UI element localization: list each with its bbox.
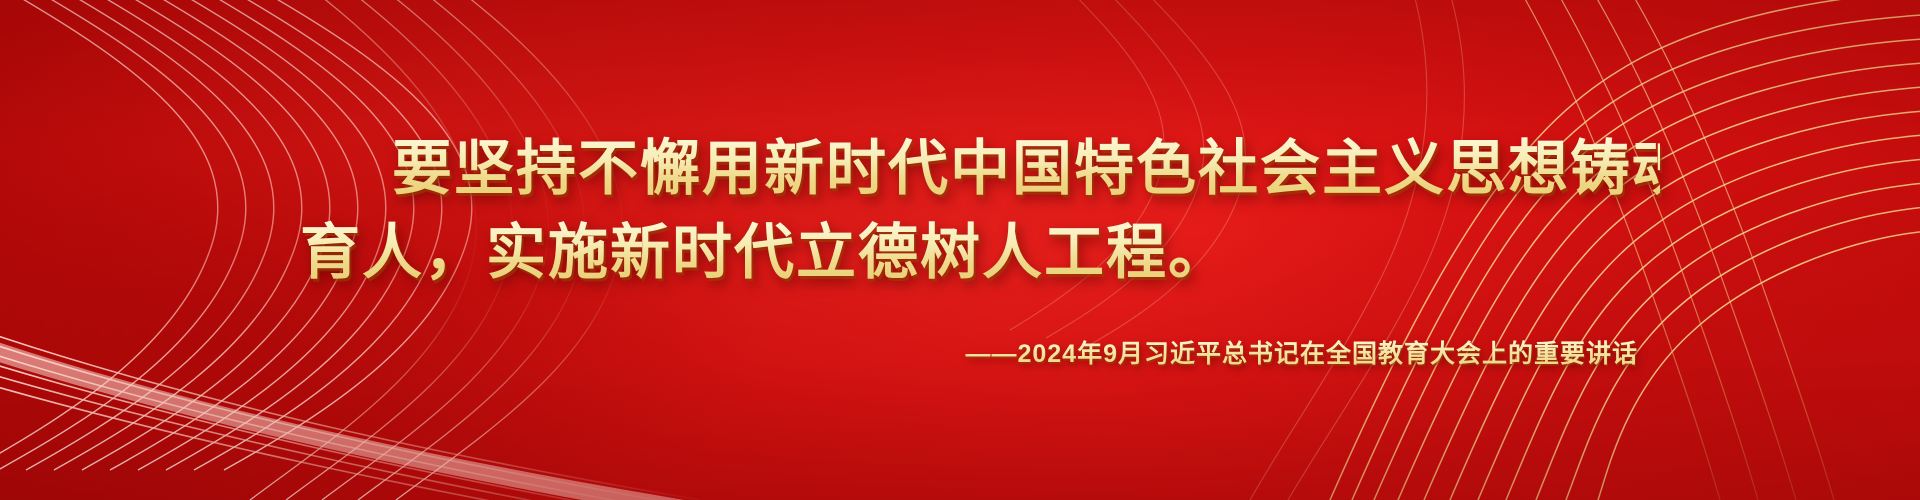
- attribution-row: ——2024年9月习近平总书记在全国教育大会上的重要讲话: [260, 338, 1660, 370]
- attribution-text: ——2024年9月习近平总书记在全国教育大会上的重要讲话: [965, 338, 1638, 370]
- quote-line-2: 育人，实施新时代立德树人工程。: [300, 214, 1660, 292]
- quote-block: 要坚持不懈用新时代中国特色社会主义思想铸魂 育人，实施新时代立德树人工程。: [260, 130, 1660, 292]
- quote-line-1: 要坚持不懈用新时代中国特色社会主义思想铸魂: [300, 130, 1660, 208]
- propaganda-banner: 要坚持不懈用新时代中国特色社会主义思想铸魂 育人，实施新时代立德树人工程。 ——…: [0, 0, 1920, 500]
- banner-content: 要坚持不懈用新时代中国特色社会主义思想铸魂 育人，实施新时代立德树人工程。 ——…: [0, 0, 1920, 500]
